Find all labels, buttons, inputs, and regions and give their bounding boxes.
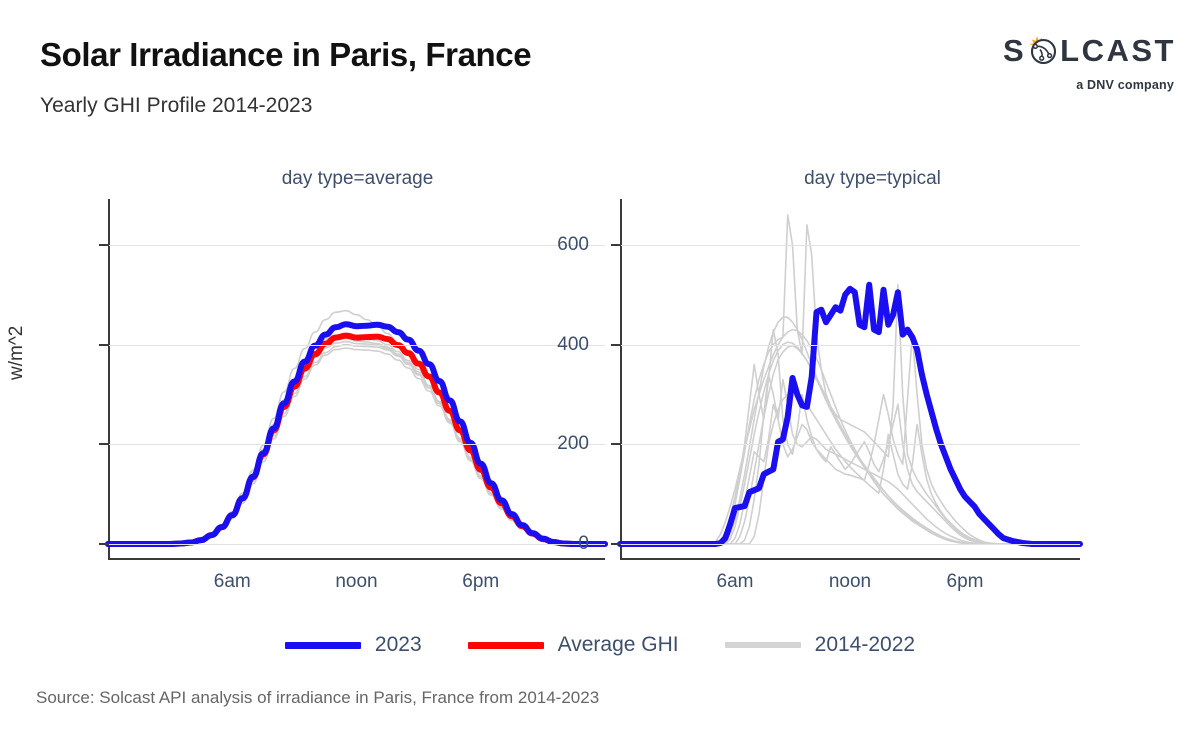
y-axis-tick <box>99 443 109 445</box>
plot-lines-typical <box>620 205 1080 559</box>
plot-panel-average: 02004006006amnoon6pm <box>108 205 605 559</box>
y-axis-tick-label: 600 <box>557 234 589 256</box>
y-axis-tick-label: 0 <box>578 533 589 555</box>
x-axis-tick-label: 6am <box>717 571 754 593</box>
gridline <box>620 245 1080 246</box>
logo-letters-lcast: LCAST <box>1060 35 1176 66</box>
y-axis-tick <box>99 543 109 545</box>
legend-label-2023: 2023 <box>375 633 422 657</box>
series-line <box>620 392 1080 544</box>
series-line <box>108 324 605 544</box>
gridline <box>620 345 1080 346</box>
logo-wordmark: S LCAST <box>996 30 1176 70</box>
y-axis-tick <box>611 543 621 545</box>
page-title: Solar Irradiance in Paris, France <box>40 36 531 74</box>
y-axis-tick <box>611 244 621 246</box>
series-line <box>108 339 605 544</box>
logo-letter-s: S <box>1003 35 1026 66</box>
source-note: Source: Solcast API analysis of irradian… <box>36 688 599 708</box>
plot-lines-average <box>108 205 605 559</box>
legend-swatch-2023 <box>285 642 361 649</box>
series-line <box>620 285 1080 544</box>
gridline <box>108 544 605 545</box>
plot-panel-typical: 6amnoon6pm <box>620 205 1080 559</box>
facet-title-average: day type=average <box>175 168 540 190</box>
gridline <box>620 444 1080 445</box>
series-line <box>108 342 605 544</box>
series-line <box>620 330 1080 544</box>
gridline <box>108 444 605 445</box>
x-axis-tick-label: 6pm <box>947 571 984 593</box>
y-axis-tick-label: 400 <box>557 334 589 356</box>
chart-container: w/m^2 day type=average day type=typical … <box>0 140 1200 680</box>
sun-starburst-icon <box>1026 33 1060 67</box>
logo-tagline: a DNV company <box>1076 78 1174 92</box>
series-line <box>620 317 1080 544</box>
y-axis-label: w/m^2 <box>6 326 28 380</box>
legend-item-2023[interactable]: 2023 <box>285 633 422 657</box>
x-axis-tick-label: 6pm <box>462 571 499 593</box>
x-axis-tick-label: noon <box>335 571 377 593</box>
series-line <box>108 348 605 544</box>
page-header: Solar Irradiance in Paris, France Yearly… <box>0 0 1200 140</box>
solcast-logo: S LCAST a DNV company <box>996 30 1176 100</box>
facet-title-typical: day type=typical <box>690 168 1055 190</box>
x-axis-tick-label: noon <box>829 571 871 593</box>
series-line <box>108 336 605 544</box>
y-axis-tick-label: 200 <box>557 433 589 455</box>
legend-item-2014-2022[interactable]: 2014-2022 <box>725 633 915 657</box>
y-axis-tick <box>99 344 109 346</box>
y-axis-tick <box>99 244 109 246</box>
legend-label-2014-2022: 2014-2022 <box>815 633 915 657</box>
series-line <box>620 375 1080 545</box>
x-axis-tick-label: 6am <box>214 571 251 593</box>
legend-swatch-2014-2022 <box>725 642 801 648</box>
series-line <box>620 330 1080 544</box>
legend-item-average-ghi[interactable]: Average GHI <box>468 633 679 657</box>
legend-label-average-ghi: Average GHI <box>558 633 679 657</box>
page-subtitle: Yearly GHI Profile 2014-2023 <box>40 94 312 118</box>
series-line <box>108 335 605 544</box>
legend-swatch-average-ghi <box>468 642 544 649</box>
gridline <box>108 345 605 346</box>
gridline <box>108 245 605 246</box>
gridline <box>620 544 1080 545</box>
y-axis-tick <box>611 443 621 445</box>
series-line <box>620 215 1080 544</box>
chart-legend: 2023 Average GHI 2014-2022 <box>0 625 1200 665</box>
y-axis-tick <box>611 344 621 346</box>
